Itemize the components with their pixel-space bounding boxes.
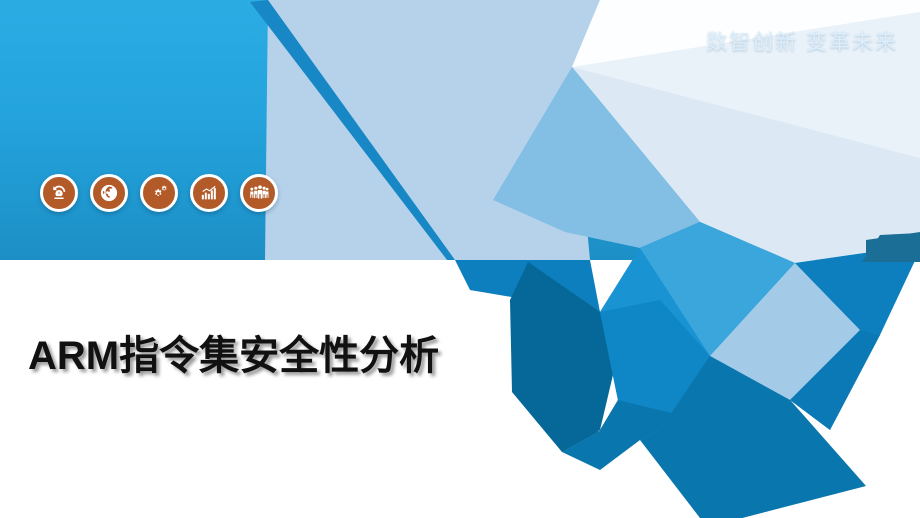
globe-glyph bbox=[99, 183, 119, 203]
page-title: ARM指令集安全性分析 bbox=[28, 323, 439, 381]
tagline: 数智创新 变革未来 bbox=[706, 26, 898, 56]
people-group-glyph bbox=[249, 183, 269, 203]
gears-icon[interactable] bbox=[140, 174, 178, 212]
low-poly-artwork bbox=[0, 0, 920, 518]
refresh-gauge-glyph bbox=[49, 183, 69, 203]
gears-glyph bbox=[149, 183, 169, 203]
globe-icon[interactable] bbox=[90, 174, 128, 212]
icon-badge-row bbox=[40, 174, 278, 212]
bar-chart-icon[interactable] bbox=[190, 174, 228, 212]
presentation-slide: 数智创新 变革未来 bbox=[0, 0, 920, 518]
people-group-icon[interactable] bbox=[240, 174, 278, 212]
refresh-gauge-icon[interactable] bbox=[40, 174, 78, 212]
bar-chart-glyph bbox=[199, 183, 219, 203]
poly-white-bottom-left bbox=[0, 440, 600, 518]
